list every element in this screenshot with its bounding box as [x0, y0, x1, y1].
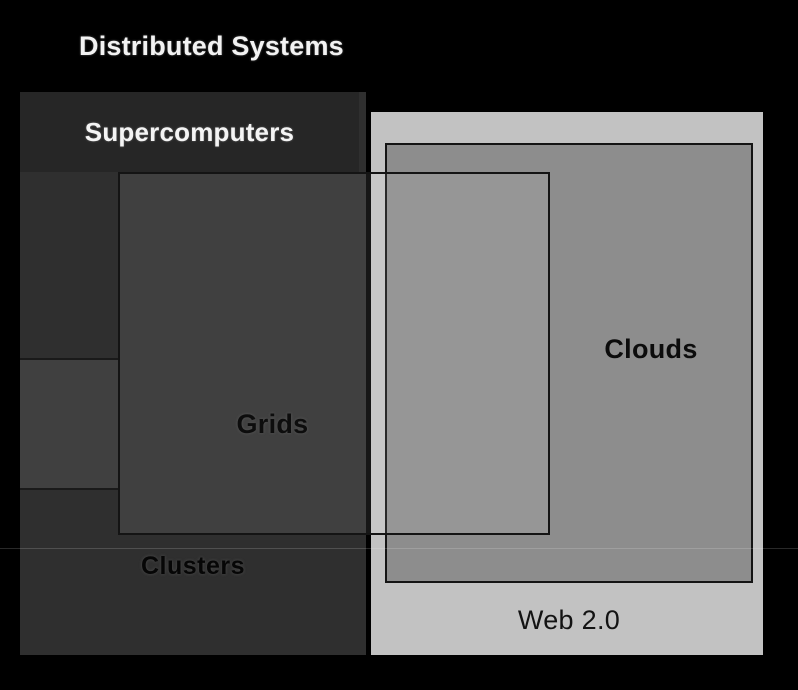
diagram-canvas: Distributed Systems Supercomputers Cloud… [0, 0, 798, 690]
label-clouds: Clouds [556, 334, 746, 365]
region-grids-left-extension [20, 358, 118, 490]
label-clusters: Clusters [20, 552, 366, 581]
diagram-title: Distributed Systems [79, 31, 344, 62]
region-grids [118, 172, 550, 535]
label-supercomputers: Supercomputers [20, 117, 359, 148]
label-grids: Grids [120, 409, 425, 440]
label-web20: Web 2.0 [385, 605, 753, 636]
